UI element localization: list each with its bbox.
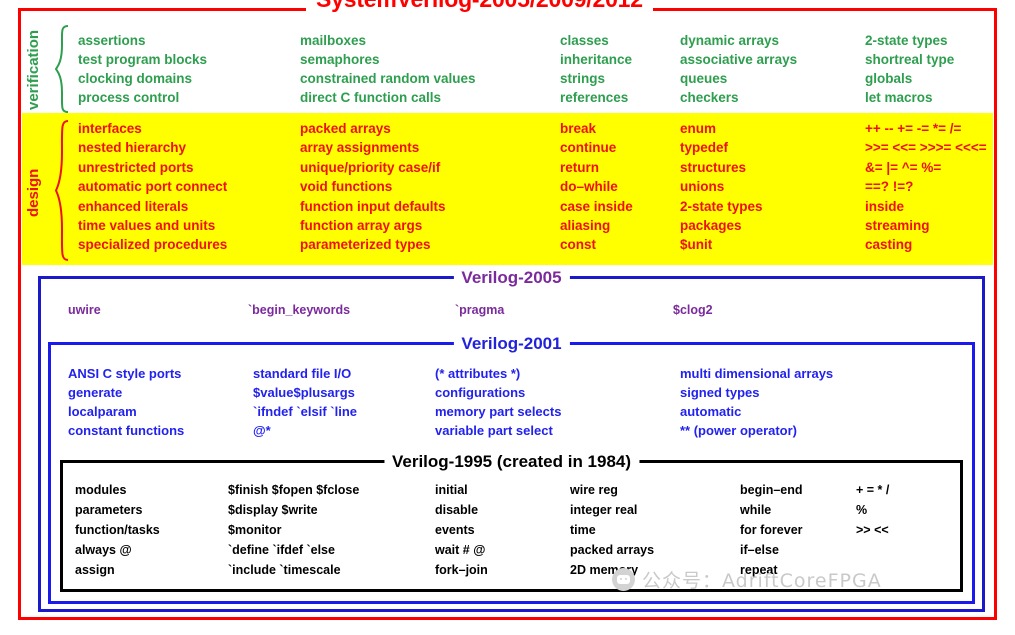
verilog-1995-box: Verilog-1995 (created in 1984) [60,460,963,592]
design-item: streaming [865,216,987,235]
verilog-2001-item: `ifndef `elsif `line [253,402,357,421]
verilog-2001-item: standard file I/O [253,364,357,383]
verilog-1995-item: time [570,520,654,540]
verilog-1995-item: wait # @ [435,540,488,560]
verilog-2005-item-clog2: $clog2 [673,303,713,317]
verification-item: associative arrays [680,50,797,69]
verilog-1995-operator-item: + = * / [856,480,889,500]
verilog-1995-item: 2D memory [570,560,654,580]
verilog-1995-item: fork–join [435,560,488,580]
design-item: interfaces [78,119,227,138]
design-item: case inside [560,197,633,216]
verilog-2001-item: memory part selects [435,402,561,421]
verification-item: references [560,88,632,107]
design-column-4: enum typedef structures unions 2-state t… [680,119,763,255]
verilog-2001-item: configurations [435,383,561,402]
design-item: function input defaults [300,197,445,216]
verilog-1995-column-2: $finish $fopen $fclose $display $write $… [228,480,359,580]
verilog-2001-item: ** (power operator) [680,421,833,440]
verilog-2001-item: constant functions [68,421,184,440]
verification-item: semaphores [300,50,476,69]
design-item: parameterized types [300,235,445,254]
design-item: continue [560,138,633,157]
verification-item: classes [560,31,632,50]
verilog-1995-item: disable [435,500,488,520]
verification-item: inheritance [560,50,632,69]
design-item: unrestricted ports [78,158,227,177]
verilog-1995-item: assign [75,560,160,580]
design-column-3: break continue return do–while case insi… [560,119,633,255]
design-item: function array args [300,216,445,235]
verification-column-2: mailboxes semaphores constrained random … [300,31,476,107]
design-item: $unit [680,235,763,254]
verilog-2005-item-begin-keywords: `begin_keywords [248,303,350,317]
design-column-2: packed arrays array assignments unique/p… [300,119,445,255]
design-item: casting [865,235,987,254]
design-item: automatic port connect [78,177,227,196]
verilog-1995-item: begin–end [740,480,803,500]
verilog-1995-item: while [740,500,803,520]
verilog-2005-title: Verilog-2005 [453,268,569,288]
verilog-1995-title: Verilog-1995 (created in 1984) [384,452,639,472]
verification-item: dynamic arrays [680,31,797,50]
verification-item: globals [865,69,954,88]
verilog-1995-column-4: wire reg integer real time packed arrays… [570,480,654,580]
verilog-1995-item: always @ [75,540,160,560]
verilog-1995-item: parameters [75,500,160,520]
verilog-1995-operator-item: >> << [856,520,889,540]
design-item: break [560,119,633,138]
verilog-1995-column-1: modules parameters function/tasks always… [75,480,160,580]
design-item: enhanced literals [78,197,227,216]
verification-column-5: 2-state types shortreal type globals let… [865,31,954,107]
page-title: SystemVerilog-2005/2009/2012 [306,0,653,13]
verilog-2001-item: automatic [680,402,833,421]
design-item: typedef [680,138,763,157]
design-item: structures [680,158,763,177]
verilog-1995-operator-item: % [856,500,889,520]
verification-column-3: classes inheritance strings references [560,31,632,107]
design-item: unique/priority case/if [300,158,445,177]
verilog-2001-column-1: ANSI C style ports generate localparam c… [68,364,184,440]
verification-item: checkers [680,88,797,107]
verilog-1995-item: initial [435,480,488,500]
verilog-2001-item: localparam [68,402,184,421]
verification-item: strings [560,69,632,88]
side-label-design: design [25,128,42,258]
verilog-2001-item: generate [68,383,184,402]
design-item: inside [865,197,987,216]
verilog-1995-item: if–else [740,540,803,560]
verification-brace [54,25,70,113]
verification-item: mailboxes [300,31,476,50]
verification-item: test program blocks [78,50,207,69]
verilog-1995-item: packed arrays [570,540,654,560]
verification-column-1: assertions test program blocks clocking … [78,31,207,107]
verification-item: direct C function calls [300,88,476,107]
verilog-1995-item: $finish $fopen $fclose [228,480,359,500]
design-item: array assignments [300,138,445,157]
verilog-1995-item: $display $write [228,500,359,520]
design-item: do–while [560,177,633,196]
verification-item: queues [680,69,797,88]
verification-column-4: dynamic arrays associative arrays queues… [680,31,797,107]
verilog-1995-item: $monitor [228,520,359,540]
verilog-2001-item: signed types [680,383,833,402]
verilog-2001-item: variable part select [435,421,561,440]
verilog-2001-column-3: (* attributes *) configurations memory p… [435,364,561,440]
verilog-1995-column-5: begin–end while for forever if–else repe… [740,480,803,580]
verilog-2001-item: multi dimensional arrays [680,364,833,383]
design-item: aliasing [560,216,633,235]
verilog-1995-item: modules [75,480,160,500]
verilog-2001-item: $value$plusargs [253,383,357,402]
verilog-2001-title: Verilog-2001 [453,334,569,354]
design-item: nested hierarchy [78,138,227,157]
verilog-2001-item: (* attributes *) [435,364,561,383]
design-operator-item: ==? !=? [865,177,987,196]
design-item: time values and units [78,216,227,235]
design-operator-item: >>= <<= >>>= <<<= [865,138,987,157]
verilog-1995-item: `include `timescale [228,560,359,580]
design-item: specialized procedures [78,235,227,254]
verilog-2001-column-4: multi dimensional arrays signed types au… [680,364,833,440]
design-item: const [560,235,633,254]
verilog-1995-item: `define `ifdef `else [228,540,359,560]
design-column-5: ++ -- += -= *= /= >>= <<= >>>= <<<= &= |… [865,119,987,255]
verification-item: 2-state types [865,31,954,50]
design-column-1: interfaces nested hierarchy unrestricted… [78,119,227,255]
design-item: void functions [300,177,445,196]
verification-item: process control [78,88,207,107]
verilog-2001-item: @* [253,421,357,440]
verification-item: assertions [78,31,207,50]
verilog-2005-item-uwire: uwire [68,303,101,317]
design-item: unions [680,177,763,196]
design-operator-item: &= |= ^= %= [865,158,987,177]
design-item: packed arrays [300,119,445,138]
design-item: enum [680,119,763,138]
design-item: return [560,158,633,177]
verilog-1995-item: repeat [740,560,803,580]
verification-item: let macros [865,88,954,107]
verilog-1995-column-3: initial disable events wait # @ fork–joi… [435,480,488,580]
verilog-1995-item: events [435,520,488,540]
verilog-2001-column-2: standard file I/O $value$plusargs `ifnde… [253,364,357,440]
verilog-1995-item: for forever [740,520,803,540]
verification-item: constrained random values [300,69,476,88]
verilog-1995-item: integer real [570,500,654,520]
design-brace [54,120,70,261]
verilog-1995-column-6-operators: + = * / % >> << [856,480,889,540]
side-label-verification: verification [25,26,42,114]
design-operator-item: ++ -- += -= *= /= [865,119,987,138]
design-item: 2-state types [680,197,763,216]
verilog-1995-item: function/tasks [75,520,160,540]
verification-item: clocking domains [78,69,207,88]
verilog-1995-item: wire reg [570,480,654,500]
verification-item: shortreal type [865,50,954,69]
verilog-2001-item: ANSI C style ports [68,364,184,383]
verilog-2005-item-pragma: `pragma [455,303,504,317]
design-item: packages [680,216,763,235]
